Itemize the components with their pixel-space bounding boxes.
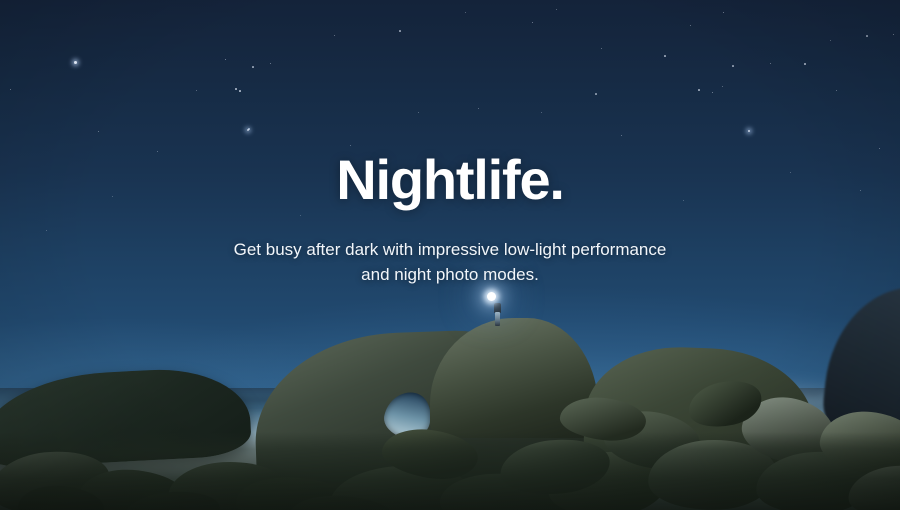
star-icon xyxy=(836,90,837,91)
lone-figure xyxy=(493,303,502,327)
star-icon xyxy=(690,25,691,26)
star-icon xyxy=(621,135,622,136)
star-icon xyxy=(239,90,241,92)
star-icon xyxy=(830,40,831,41)
star-icon xyxy=(46,230,47,231)
star-icon xyxy=(399,30,401,32)
star-icon xyxy=(541,112,542,113)
star-icon xyxy=(664,55,666,57)
star-icon xyxy=(712,92,713,93)
star-icon xyxy=(723,12,724,13)
star-icon xyxy=(235,88,237,90)
star-icon xyxy=(893,34,894,35)
star-icon xyxy=(98,131,99,132)
star-icon xyxy=(804,63,806,65)
figure-legs xyxy=(495,312,500,326)
star-icon xyxy=(770,63,771,64)
star-icon xyxy=(350,145,351,146)
star-icon xyxy=(478,108,479,109)
star-icon xyxy=(866,35,868,37)
star-icon xyxy=(722,86,723,87)
star-icon xyxy=(732,65,734,67)
star-icon xyxy=(418,112,419,113)
page-title: Nightlife. xyxy=(0,150,900,210)
hero-subheading: Get busy after dark with impressive low-… xyxy=(0,238,900,287)
star-icon xyxy=(595,93,597,95)
star-icon xyxy=(270,63,271,64)
star-icon xyxy=(196,90,197,91)
subheading-line-2: and night photo modes. xyxy=(361,265,539,284)
star-icon xyxy=(74,61,77,64)
star-icon xyxy=(601,48,602,49)
headlamp-light-icon xyxy=(487,292,496,301)
star-icon xyxy=(247,129,249,131)
night-hero-banner: Nightlife. Get busy after dark with impr… xyxy=(0,0,900,510)
star-icon xyxy=(698,89,700,91)
subheading-line-1: Get busy after dark with impressive low-… xyxy=(234,240,667,259)
star-icon xyxy=(465,12,466,13)
star-icon xyxy=(225,59,226,60)
star-icon xyxy=(556,9,557,10)
star-icon xyxy=(748,130,750,132)
star-icon xyxy=(532,22,533,23)
star-icon xyxy=(300,215,301,216)
foreground-shadow xyxy=(0,432,900,510)
star-icon xyxy=(252,66,254,68)
star-icon xyxy=(10,89,11,90)
star-icon xyxy=(334,35,335,36)
